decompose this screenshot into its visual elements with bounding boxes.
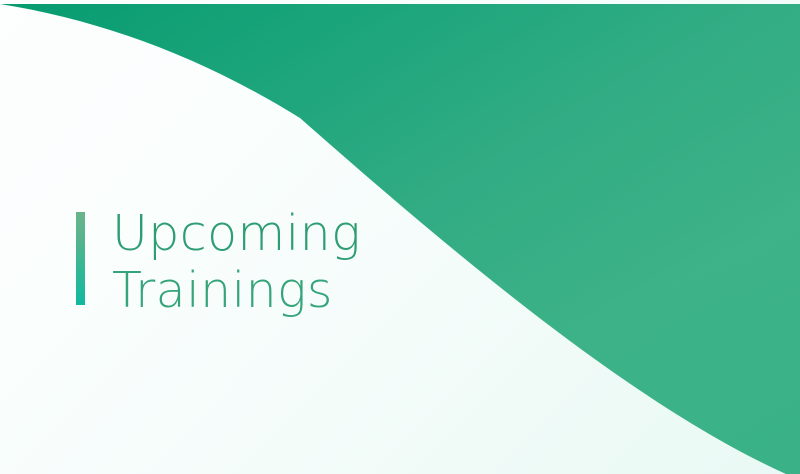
page-title-line-1: Upcoming bbox=[112, 205, 361, 262]
accent-bar bbox=[76, 212, 85, 305]
title-slide: Upcoming Trainings bbox=[0, 0, 800, 474]
page-title-line-2: Trainings bbox=[112, 262, 361, 319]
headline-text: Upcoming Trainings bbox=[112, 205, 361, 319]
headline-block: Upcoming Trainings bbox=[76, 205, 361, 319]
